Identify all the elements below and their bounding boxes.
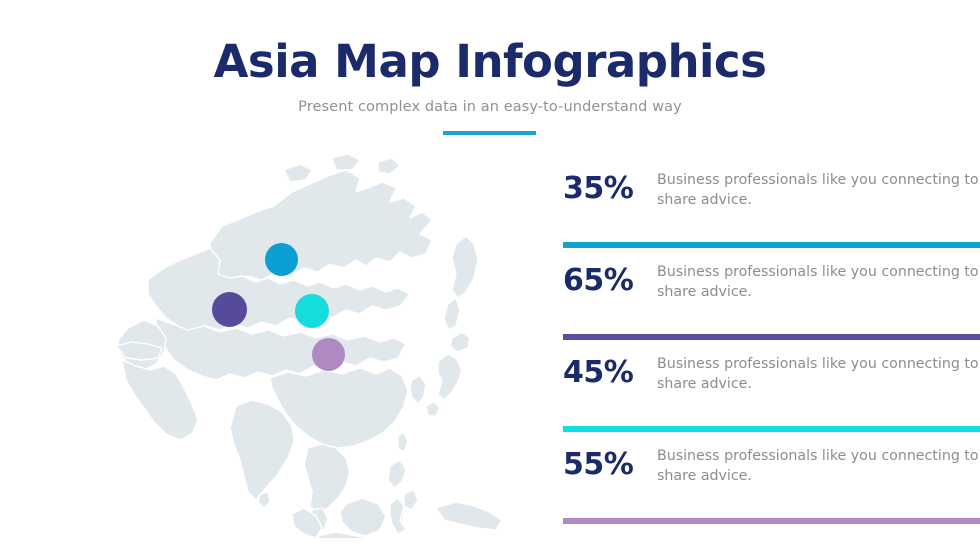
stat-description: Business professionals like you connecti… xyxy=(657,352,980,394)
asia-map-svg xyxy=(60,148,550,538)
stat-row[interactable]: 45% Business professionals like you conn… xyxy=(563,346,980,438)
map-landmass xyxy=(116,154,502,538)
stat-row[interactable]: 35% Business professionals like you conn… xyxy=(563,162,980,254)
stat-percent: 35% xyxy=(563,168,657,205)
stat-divider xyxy=(563,242,980,248)
stat-description: Business professionals like you connecti… xyxy=(657,444,980,486)
stat-divider xyxy=(563,518,980,524)
stat-divider xyxy=(563,426,980,432)
map-marker-blue[interactable] xyxy=(265,243,298,276)
page-subtitle: Present complex data in an easy-to-under… xyxy=(0,99,980,115)
stat-row[interactable]: 65% Business professionals like you conn… xyxy=(563,254,980,346)
map-marker-purple[interactable] xyxy=(212,292,247,327)
stat-row[interactable]: 55% Business professionals like you conn… xyxy=(563,438,980,530)
page-title: Asia Map Infographics xyxy=(0,38,980,85)
stats-list: 35% Business professionals like you conn… xyxy=(563,162,980,530)
header: Asia Map Infographics Present complex da… xyxy=(0,0,980,115)
map-marker-lightpurple[interactable] xyxy=(312,338,345,371)
map-marker-turquoise[interactable] xyxy=(295,294,329,328)
stat-description: Business professionals like you connecti… xyxy=(657,168,980,210)
asia-map xyxy=(60,148,550,538)
title-accent-bar xyxy=(443,131,536,135)
slide-root: Asia Map Infographics Present complex da… xyxy=(0,0,980,551)
stat-description: Business professionals like you connecti… xyxy=(657,260,980,302)
stat-percent: 65% xyxy=(563,260,657,297)
stat-percent: 45% xyxy=(563,352,657,389)
stat-divider xyxy=(563,334,980,340)
stat-percent: 55% xyxy=(563,444,657,481)
